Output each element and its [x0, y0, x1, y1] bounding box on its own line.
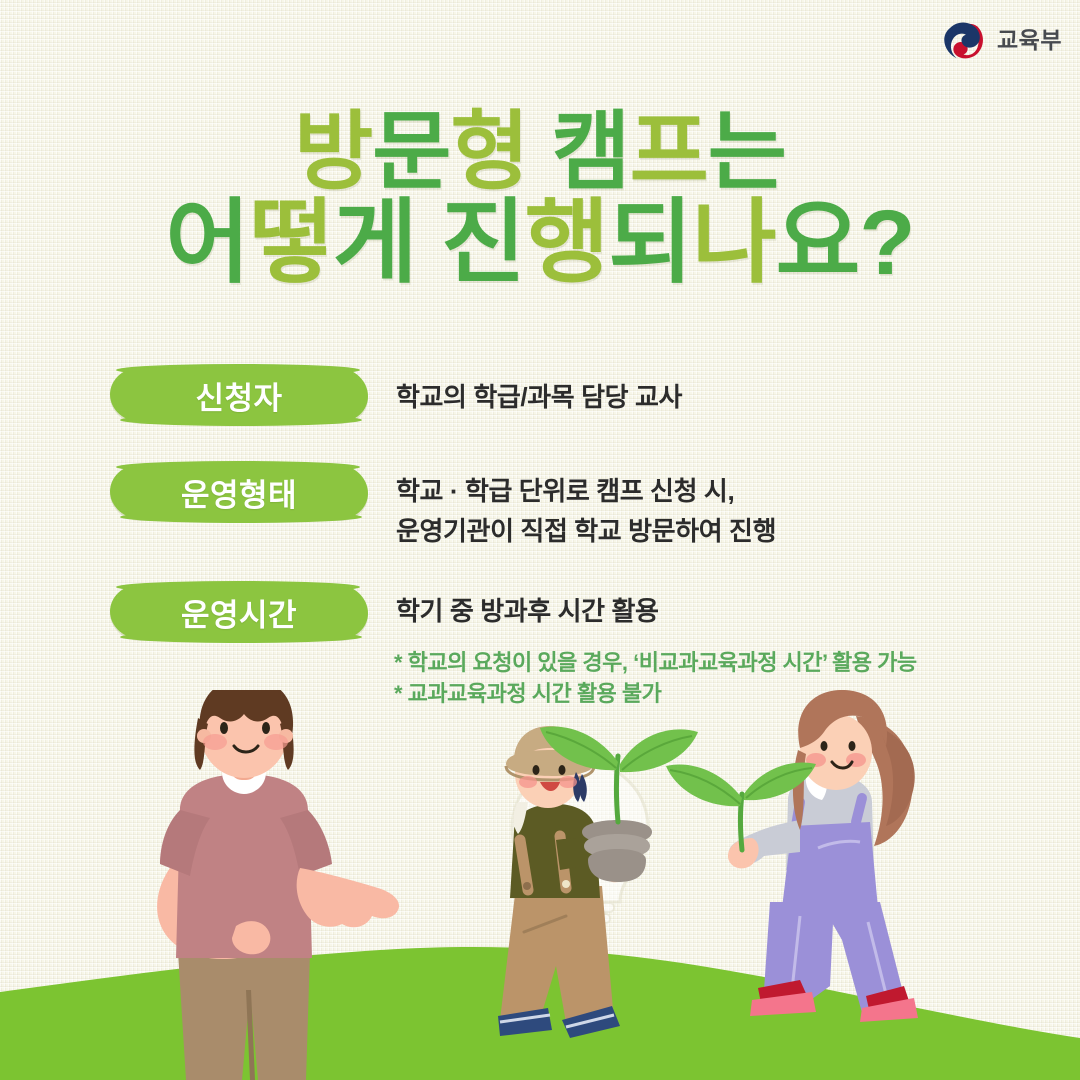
- flower-pot: [582, 820, 652, 882]
- label-pill-applicant: 신청자: [110, 368, 368, 422]
- row-body-operation-type: 학교 · 학급 단위로 캠프 신청 시, 운영기관이 직접 학교 방문하여 진행: [396, 472, 776, 551]
- title-line-2: 어떻게 진행되나요?: [0, 198, 1080, 288]
- logo-text: 교육부: [997, 29, 1062, 52]
- row-body-operation-hours: 학기 중 방과후 시간 활용: [396, 592, 659, 632]
- row-body-applicant: 학교의 학급/과목 담당 교사: [396, 378, 682, 418]
- pill-label-text: 신청자: [195, 373, 282, 418]
- ministry-logo-block: 교육부: [940, 16, 1062, 64]
- label-pill-operation-hours: 운영시간: [110, 585, 368, 639]
- taegeuk-emblem-icon: [940, 16, 988, 64]
- figure-girl-carrying-leaf: [666, 690, 918, 1022]
- footnote-item: * 학교의 요청이 있을 경우, ‘비교과교육과정 시간’ 활용 가능: [394, 647, 917, 678]
- poster-canvas: 교육부 방문형 캠프는 어떻게 진행되나요? 신청자 학교의 학급/과목 담당 …: [0, 0, 1080, 1080]
- figure-teacher-woman: [157, 690, 399, 1080]
- page-title: 방문형 캠프는 어떻게 진행되나요?: [0, 110, 1080, 288]
- pill-label-text: 운영시간: [181, 590, 297, 635]
- pill-label-text: 운영형태: [181, 470, 297, 515]
- info-row-operation-type: 운영형태 학교 · 학급 단위로 캠프 신청 시, 운영기관이 직접 학교 방문…: [0, 465, 1080, 575]
- info-row-applicant: 신청자 학교의 학급/과목 담당 교사: [0, 368, 1080, 438]
- label-pill-operation-type: 운영형태: [110, 465, 368, 519]
- illustration-group: [0, 690, 1080, 1080]
- title-line-1: 방문형 캠프는: [0, 110, 1080, 194]
